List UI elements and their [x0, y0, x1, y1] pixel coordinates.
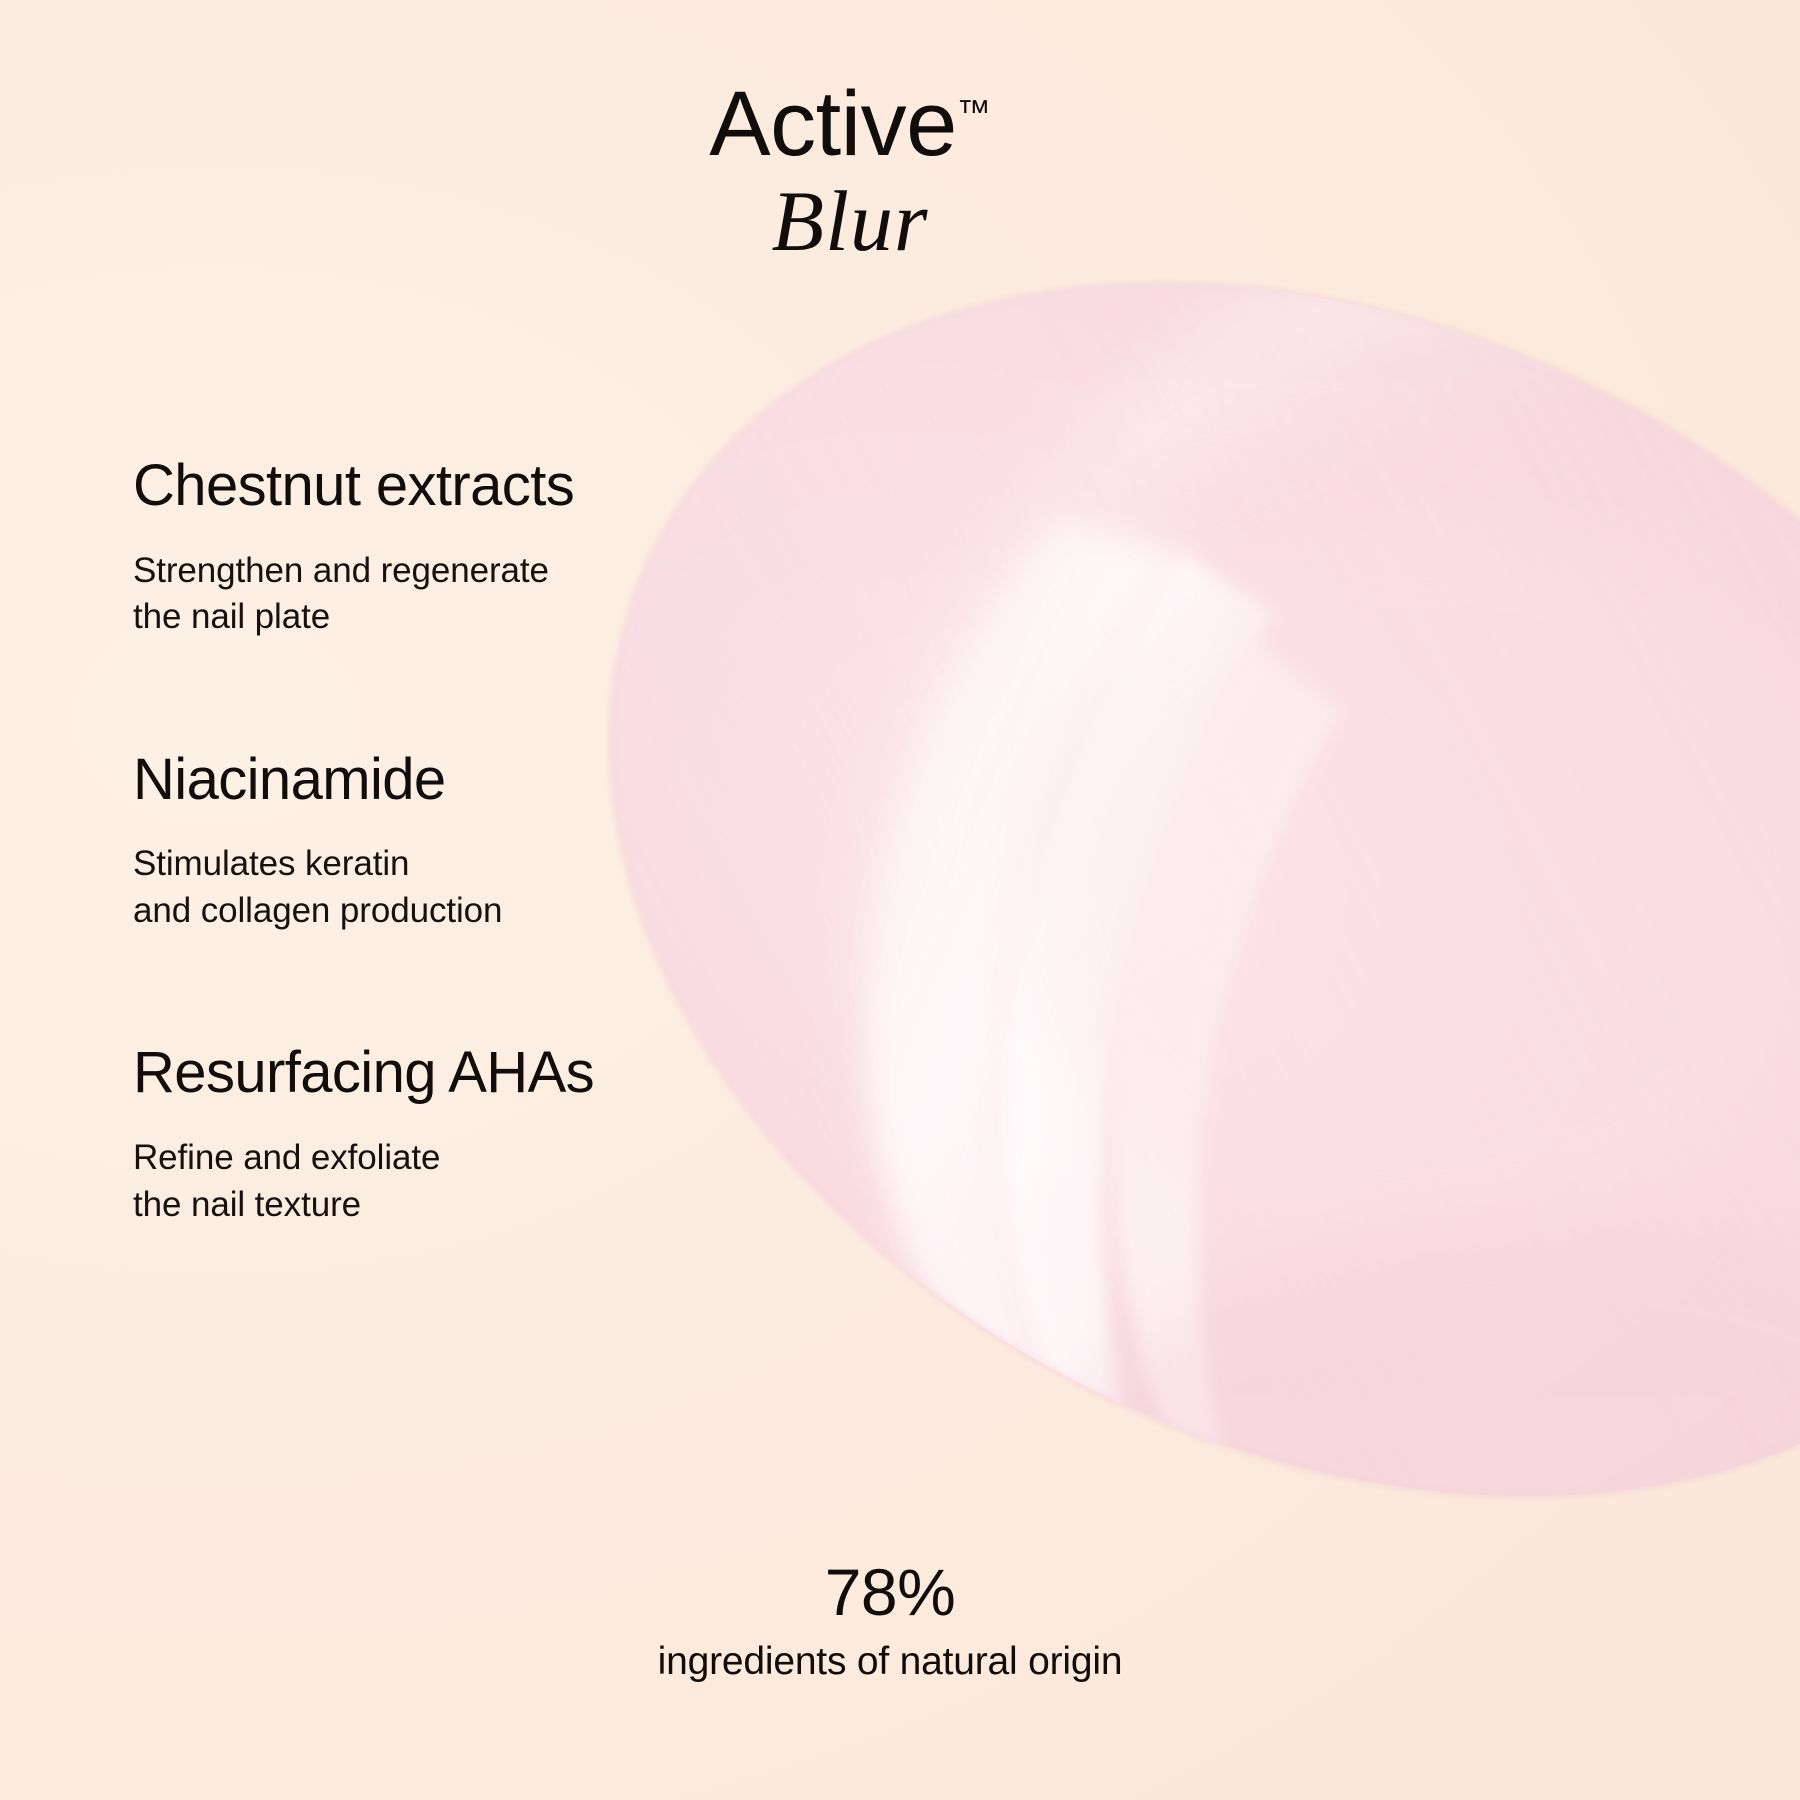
brand-name: Active [709, 73, 957, 175]
brand-title-block: Active™ Blur [640, 78, 1060, 266]
natural-origin-claim: 78% ingredients of natural origin [540, 1558, 1240, 1686]
benefit-item-chestnut-extracts: Chestnut extracts Strengthen and regener… [133, 455, 793, 641]
benefit-item-niacinamide: Niacinamide Stimulates keratin and colla… [133, 749, 793, 935]
brand-name-line: Active™ [640, 78, 1060, 170]
benefit-title: Chestnut extracts [133, 455, 793, 518]
benefit-description: Strengthen and regenerate the nail plate [133, 548, 793, 641]
brand-descriptor: Blur [640, 176, 1060, 266]
natural-origin-caption: ingredients of natural origin [540, 1639, 1240, 1686]
benefit-title: Resurfacing AHAs [133, 1042, 793, 1105]
benefit-description: Stimulates keratin and collagen producti… [133, 841, 793, 934]
benefit-title: Niacinamide [133, 749, 793, 812]
product-feature-card: Active™ Blur Chestnut extracts Strengthe… [0, 0, 1800, 1800]
benefit-item-resurfacing-ahas: Resurfacing AHAs Refine and exfoliate th… [133, 1042, 793, 1228]
benefit-description: Refine and exfoliate the nail texture [133, 1135, 793, 1228]
trademark-symbol: ™ [957, 93, 991, 131]
benefits-list: Chestnut extracts Strengthen and regener… [133, 455, 793, 1228]
natural-origin-percent: 78% [540, 1558, 1240, 1627]
